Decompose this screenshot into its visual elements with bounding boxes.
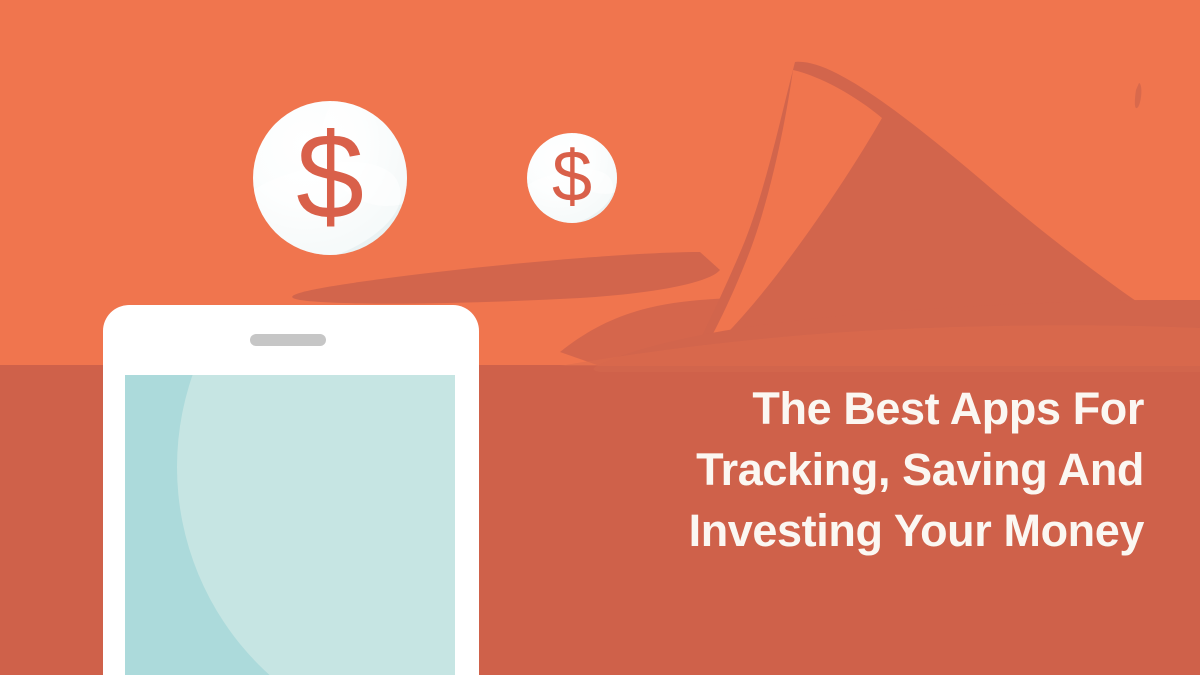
headline-line-2: Tracking, Saving And	[524, 439, 1144, 500]
headline-line-1: The Best Apps For	[524, 378, 1144, 439]
coin-small: $	[527, 133, 617, 223]
phone-speaker-icon	[250, 334, 326, 346]
phone-screen-glare	[177, 375, 455, 675]
headline-line-3: Investing Your Money	[524, 500, 1144, 561]
smartphone-illustration	[103, 305, 479, 675]
dollar-sign-icon: $	[296, 115, 364, 237]
coin-large: $	[253, 101, 407, 255]
hero-banner: $ $ The Best Apps For Tracking, Saving A…	[0, 0, 1200, 675]
phone-screen	[125, 375, 455, 675]
dollar-sign-icon: $	[552, 141, 592, 213]
page-title: The Best Apps For Tracking, Saving And I…	[524, 378, 1144, 561]
